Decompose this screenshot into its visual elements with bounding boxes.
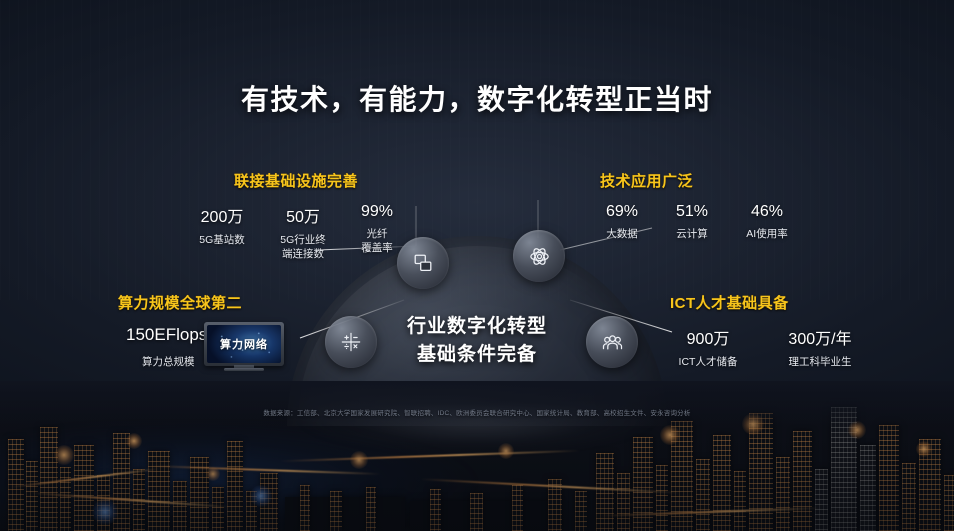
monitor-screen-label: 算力网络	[220, 336, 268, 352]
center-headline-line2: 基础条件完备	[352, 341, 602, 369]
stat-item: 99% 光纤 覆盖率	[352, 203, 402, 255]
monitor-frame: 算力网络	[204, 322, 284, 366]
slide-canvas: 有技术，有能力，数字化转型正当时	[0, 0, 954, 531]
stat-value: 99%	[361, 203, 393, 221]
computing-network-monitor: 算力网络	[204, 322, 284, 370]
stat-value: 51%	[676, 203, 708, 221]
overlapping-windows-icon	[412, 252, 434, 274]
monitor-foot	[224, 368, 264, 371]
stat-label: AI使用率	[746, 227, 787, 241]
stat-label: 算力总规模	[126, 355, 195, 369]
skyline-top-fade	[0, 381, 954, 427]
node-technology[interactable]	[513, 230, 565, 282]
connectivity-heading: 联接基础设施完善	[186, 170, 406, 191]
stat-label: 云计算	[676, 227, 708, 241]
page-title: 有技术，有能力，数字化转型正当时	[0, 78, 954, 118]
stat-item: 51% 云计算	[670, 203, 714, 241]
stat-item: 200万 5G基站数	[190, 203, 254, 247]
stat-value: 300万/年	[788, 325, 851, 349]
stat-value: 46%	[751, 203, 783, 221]
center-headline-line1: 行业数字化转型	[352, 313, 602, 341]
center-headline: 行业数字化转型 基础条件完备	[352, 313, 602, 368]
stat-label: ICT人才储备	[679, 355, 738, 369]
group-connectivity: 联接基础设施完善 200万 5G基站数 50万 5G行业终 端连接数 99% 光…	[186, 170, 406, 261]
talent-heading: ICT人才基础具备	[666, 292, 896, 313]
atom-icon	[528, 245, 551, 268]
stat-item: 300万/年 理工科毕业生	[782, 325, 858, 369]
stat-value: 200万	[201, 203, 244, 227]
stat-label: 大数据	[606, 227, 638, 241]
stat-label: 光纤 覆盖率	[361, 227, 393, 255]
stat-label: 5G基站数	[199, 233, 245, 247]
stat-item: 46% AI使用率	[740, 203, 794, 241]
monitor-screen: 算力网络	[207, 325, 281, 363]
technology-heading: 技术应用广泛	[596, 170, 816, 191]
stat-value: 900万	[687, 325, 730, 349]
stat-label: 理工科毕业生	[789, 355, 852, 369]
stat-value: 50万	[286, 203, 320, 227]
group-talent: ICT人才基础具备 900万 ICT人才储备 300万/年 理工科毕业生	[666, 292, 896, 369]
stat-item: 50万 5G行业终 端连接数	[272, 203, 334, 261]
stat-value: 150EFlops	[126, 325, 207, 345]
stat-item: 900万 ICT人才储备	[672, 325, 744, 369]
people-group-icon	[601, 331, 624, 354]
stat-item: 69% 大数据	[600, 203, 644, 241]
group-technology: 技术应用广泛 69% 大数据 51% 云计算 46% AI使用率	[596, 170, 816, 241]
computing-heading: 算力规模全球第二	[118, 292, 318, 313]
stat-value: 69%	[606, 203, 638, 221]
stat-label: 5G行业终 端连接数	[280, 233, 326, 261]
